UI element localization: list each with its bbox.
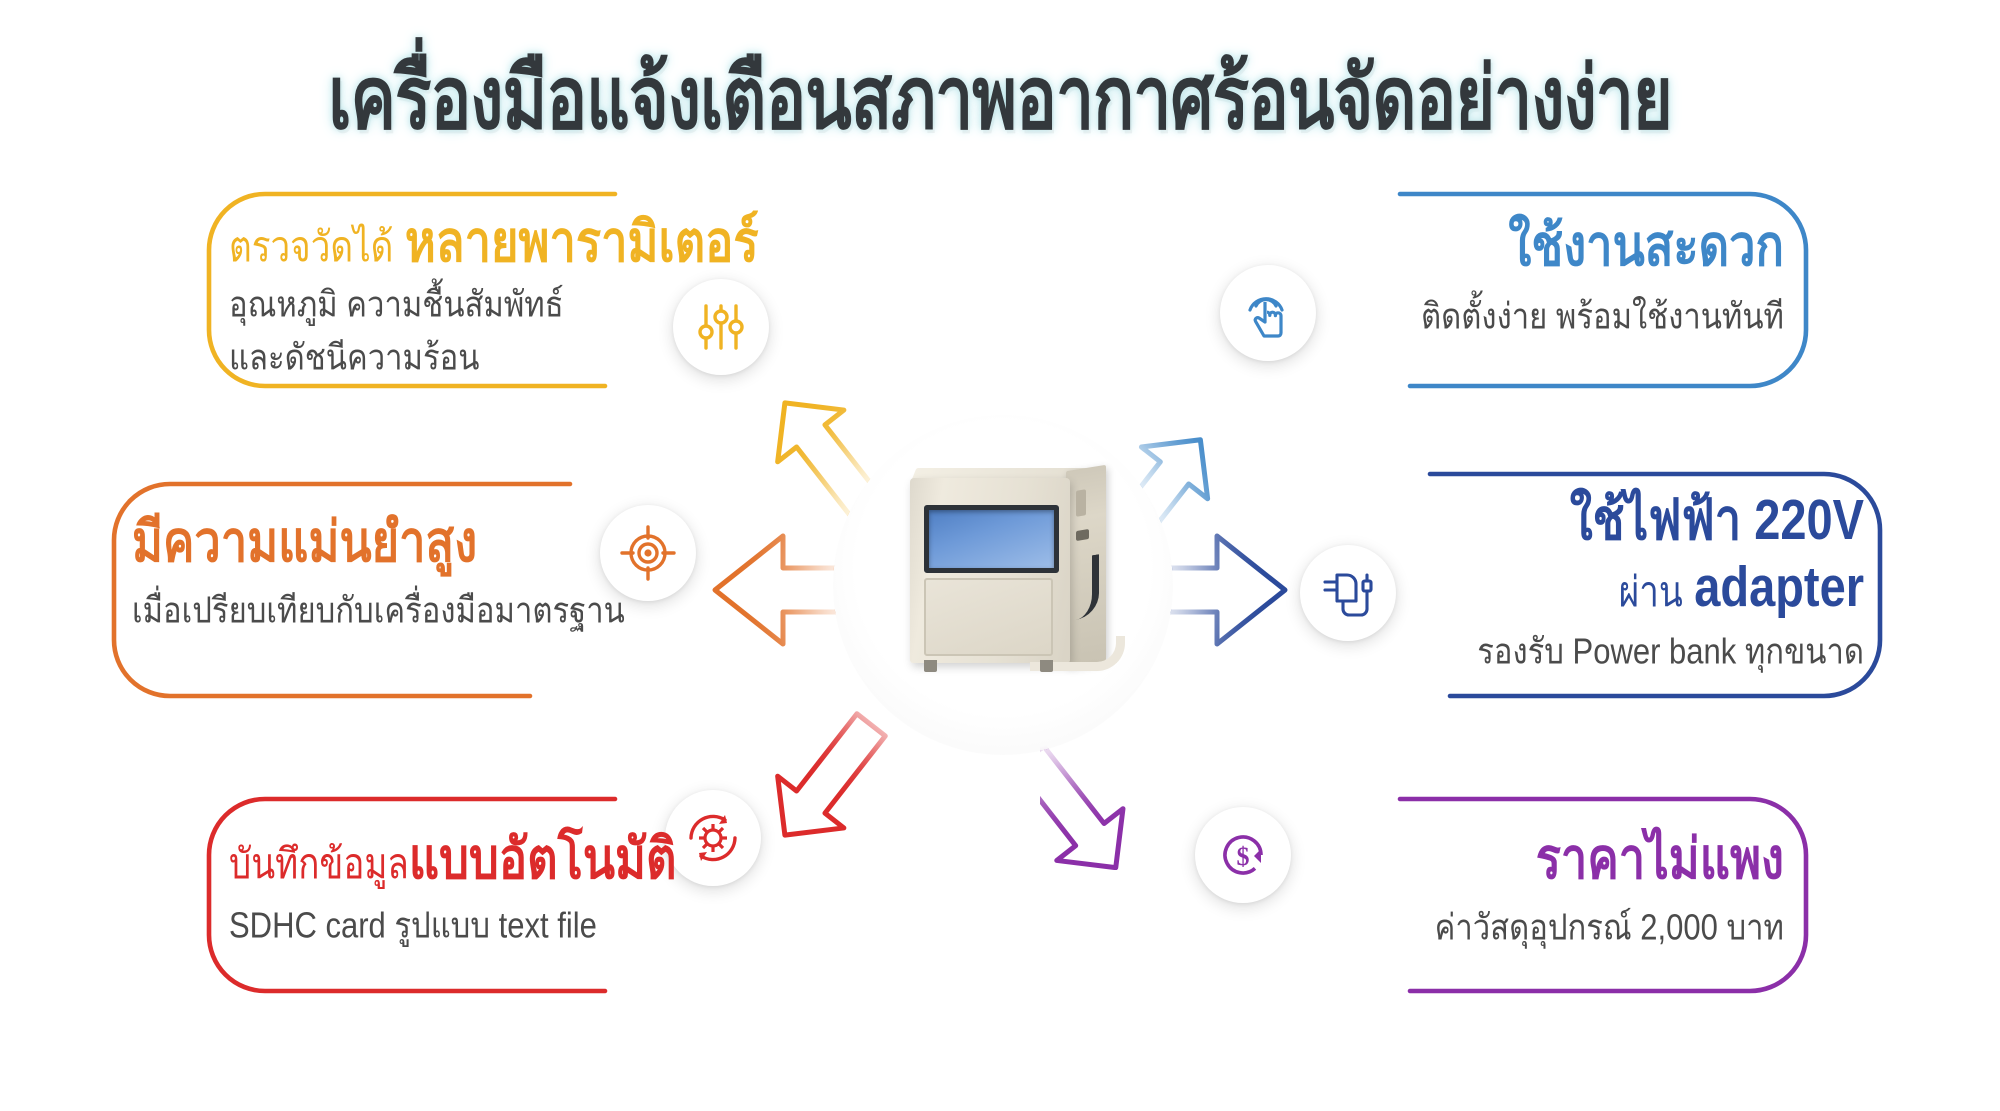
feature-panel-multi-parameter: ตรวจวัดได้ หลายพารามิเตอร์ อุณหภูมิ ความ… (205, 190, 625, 390)
feature-panel-auto-logging: บันทึกข้อมูลแบบอัตโนมัติ SDHC card รูปแบ… (205, 795, 625, 995)
money-back-icon: $ (1214, 826, 1272, 884)
touch-tap-icon (1240, 284, 1296, 342)
target-icon (619, 524, 677, 582)
feature-head-power-220v-line2: ผ่าน adapter (1444, 557, 1864, 618)
feature-head-high-accuracy: มีความแม่นยำสูง (132, 512, 625, 573)
svg-text:$: $ (1237, 842, 1250, 871)
feature-head-low-price: ราคาไม่แพง (1414, 829, 1784, 890)
money-back-icon-bubble[interactable]: $ (1195, 807, 1291, 903)
feature-sub-power-220v: รองรับ Power bank ทุกขนาด (1444, 630, 1864, 673)
feature-head-multi-parameter: ตรวจวัดได้ หลายพารามิเตอร์ (229, 212, 759, 273)
infographic-canvas: เครื่องมือแจ้งเตือนสภาพอากาศร้อนจัดอย่าง… (0, 0, 2000, 1111)
device-lcd-screen (924, 505, 1059, 573)
device-photo (880, 460, 1130, 695)
feature-panel-low-price: ราคาไม่แพง ค่าวัสดุอุปกรณ์ 2,000 บาท (1390, 795, 1810, 995)
feature-head-auto-logging: บันทึกข้อมูลแบบอัตโนมัติ (229, 829, 676, 890)
power-adapter-icon (1319, 565, 1377, 621)
feature-head-power-220v: ใช้ไฟฟ้า 220V (1444, 490, 1864, 551)
feature-sub-line-1: อุณหภูมิ ความชื้นสัมพัทธ์ (229, 283, 759, 326)
feature-head-easy-to-use: ใช้งานสะดวก (1414, 216, 1784, 277)
auto-gear-icon-bubble[interactable] (665, 790, 761, 886)
feature-sub-high-accuracy: เมื่อเปรียบเทียบกับเครื่องมือมาตรฐาน (132, 589, 625, 632)
touch-tap-icon-bubble[interactable] (1220, 265, 1316, 361)
feature-panel-power-220v: ใช้ไฟฟ้า 220V ผ่าน adapter รองรับ Power … (1420, 470, 1890, 700)
feature-sub-auto-logging: SDHC card รูปแบบ text file (229, 904, 676, 947)
feature-panel-easy-to-use: ใช้งานสะดวก ติดตั้งง่าย พร้อมใช้งานทันที (1390, 190, 1810, 390)
page-title: เครื่องมือแจ้งเตือนสภาพอากาศร้อนจัดอย่าง… (0, 28, 2000, 166)
feature-panel-high-accuracy: มีความแม่นยำสูง เมื่อเปรียบเทียบกับเครื่… (110, 480, 580, 700)
power-adapter-icon-bubble[interactable] (1300, 545, 1396, 641)
feature-sub-line-2: และดัชนีความร้อน (229, 336, 759, 379)
auto-gear-icon (683, 808, 743, 868)
feature-sub-low-price: ค่าวัสดุอุปกรณ์ 2,000 บาท (1414, 906, 1784, 949)
feature-sub-easy-to-use: ติดตั้งง่าย พร้อมใช้งานทันที (1414, 295, 1784, 338)
